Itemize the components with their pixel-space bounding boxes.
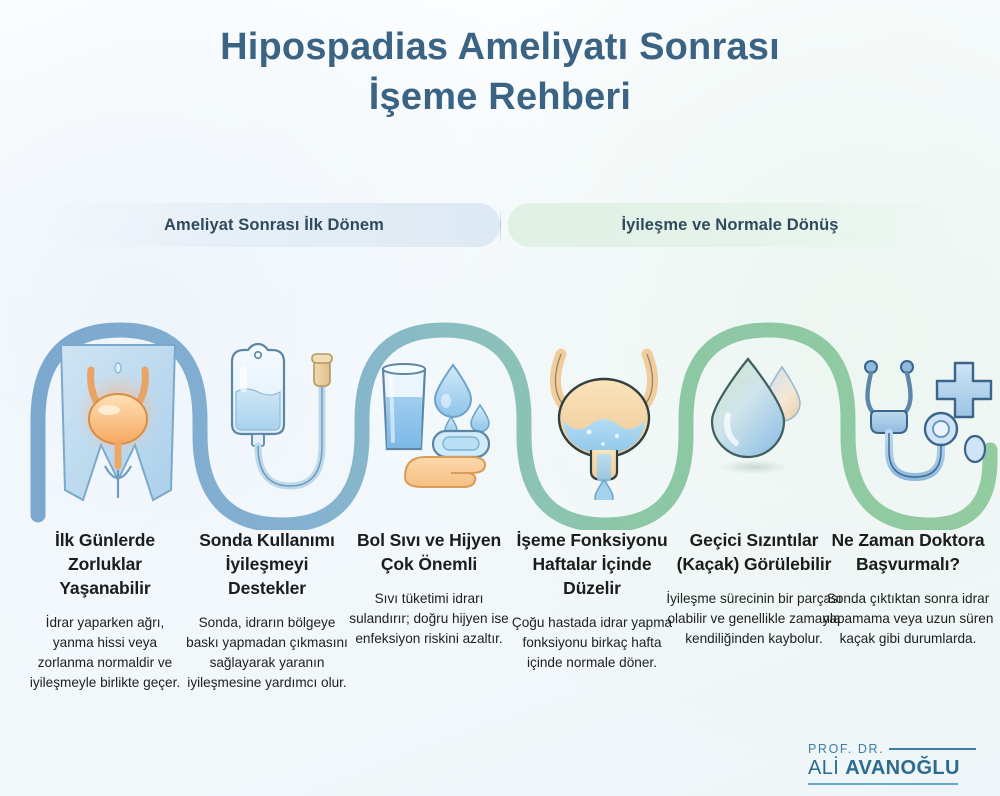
icon-cell-2 xyxy=(200,330,360,510)
water-glass-soap-hand-icon xyxy=(367,345,517,495)
card-4-body: Çoğu hastada idrar yapma fonksiyonu birk… xyxy=(504,613,680,673)
logo-underline xyxy=(808,783,958,785)
brand-logo: PROF. DR. ALİ AVANOĞLU xyxy=(808,742,976,786)
card-6-heading: Ne Zaman Doktora Başvurmalı? xyxy=(820,528,996,576)
logo-prefix-row: PROF. DR. xyxy=(808,742,976,756)
bladder-urine-drop-icon xyxy=(529,340,679,500)
card-5: Geçici Sızıntılar (Kaçak) Görülebilir İy… xyxy=(666,528,842,649)
card-1-body: İdrar yaparken ağrı, yanma hissi veya zo… xyxy=(24,613,186,693)
water-droplets-icon xyxy=(696,345,836,495)
page-title-line-1: Hipospadias Ameliyatı Sonrası xyxy=(0,22,1000,72)
card-2: Sonda Kullanımı İyileşmeyi Destekler Son… xyxy=(186,528,348,693)
card-2-body: Sonda, idrarın bölgeye baskı yapmadan çı… xyxy=(186,613,348,693)
section-header-right: İyileşme ve Normale Dönüş xyxy=(508,203,952,247)
catheter-drainage-bag-icon xyxy=(210,340,350,500)
logo-prefix: PROF. DR. xyxy=(808,742,884,756)
card-5-heading: Geçici Sızıntılar (Kaçak) Görülebilir xyxy=(666,528,842,576)
card-3: Bol Sıvı ve Hijyen Çok Önemli Sıvı tüket… xyxy=(348,528,510,649)
logo-first-name: ALİ xyxy=(808,757,839,779)
infographic-page: Hipospadias Ameliyatı Sonrası İşeme Rehb… xyxy=(0,0,1000,796)
logo-name: ALİ AVANOĞLU xyxy=(808,757,976,780)
icon-cell-4 xyxy=(524,330,684,510)
section-header-right-label: İyileşme ve Normale Dönüş xyxy=(621,216,838,235)
card-1-heading: İlk Günlerde Zorluklar Yaşanabilir xyxy=(24,528,186,600)
logo-rule xyxy=(889,748,976,750)
section-header-left-label: Ameliyat Sonrası İlk Dönem xyxy=(164,216,384,235)
card-1: İlk Günlerde Zorluklar Yaşanabilir İdrar… xyxy=(24,528,186,693)
section-header-left: Ameliyat Sonrası İlk Dönem xyxy=(48,203,500,247)
icon-cell-5 xyxy=(686,330,846,510)
card-5-body: İyileşme sürecinin bir parçası olabilir … xyxy=(666,589,842,649)
torso-inflamed-bladder-icon xyxy=(43,330,193,510)
card-4-heading: İşeme Fonksiyonu Haftalar İçinde Düzelir xyxy=(504,528,680,600)
section-divider xyxy=(500,210,501,246)
card-4: İşeme Fonksiyonu Haftalar İçinde Düzelir… xyxy=(504,528,680,673)
stethoscope-medical-cross-icon xyxy=(853,345,1000,495)
page-title-line-2: İşeme Rehberi xyxy=(0,72,1000,122)
icon-cell-1 xyxy=(38,330,198,510)
page-title: Hipospadias Ameliyatı Sonrası İşeme Rehb… xyxy=(0,22,1000,122)
icon-cell-3 xyxy=(362,330,522,510)
card-3-body: Sıvı tüketimi idrarı sulandırır; doğru h… xyxy=(348,589,510,649)
icon-cell-6 xyxy=(848,330,1000,510)
card-6-body: Sonda çıktıktan sonra idrar yapamama vey… xyxy=(820,589,996,649)
logo-last-name: AVANOĞLU xyxy=(845,757,960,779)
card-2-heading: Sonda Kullanımı İyileşmeyi Destekler xyxy=(186,528,348,600)
card-6: Ne Zaman Doktora Başvurmalı? Sonda çıktı… xyxy=(820,528,996,649)
card-3-heading: Bol Sıvı ve Hijyen Çok Önemli xyxy=(348,528,510,576)
